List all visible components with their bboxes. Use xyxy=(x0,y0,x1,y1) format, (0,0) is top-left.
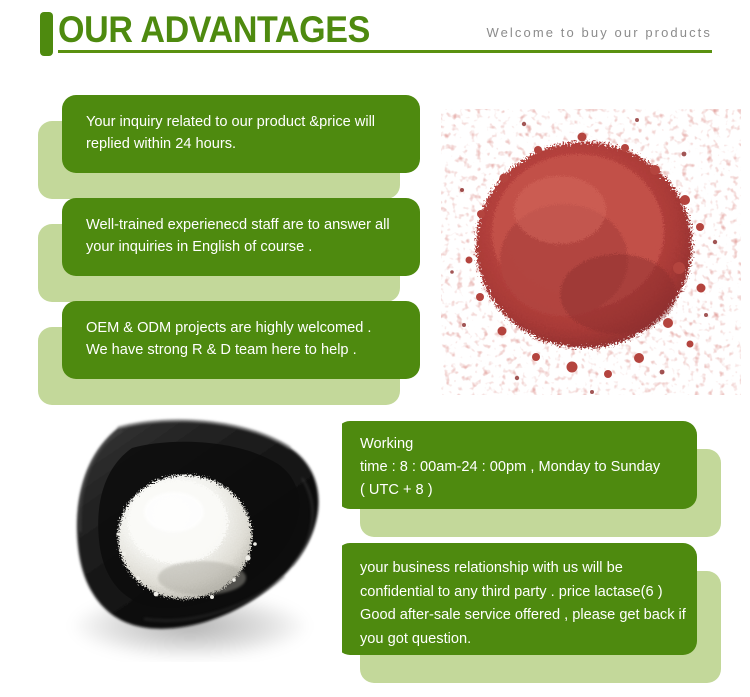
bubble-text: Well-trained experienecd staff are to an… xyxy=(86,214,416,258)
red-powder-photo xyxy=(432,82,750,408)
working-hours-bubble: Working time : 8 : 00am-24 : 00pm , Mond… xyxy=(336,421,722,536)
advantage-bubble: OEM & ODM projects are highly welcomed .… xyxy=(38,301,424,411)
advantage-bubble: Well-trained experienecd staff are to an… xyxy=(38,198,424,308)
confidentiality-bubble: your business relationship with us will … xyxy=(336,543,722,683)
bowl-illustration xyxy=(52,412,342,662)
header-tagline: Welcome to buy our products xyxy=(486,25,712,40)
white-powder-bowl-photo xyxy=(52,412,342,662)
title-accent-bar xyxy=(40,12,53,56)
bubble-text: your business relationship with us will … xyxy=(360,557,690,651)
header-divider xyxy=(58,50,712,53)
page-title: OUR ADVANTAGES xyxy=(58,8,370,52)
red-powder-illustration xyxy=(432,82,750,408)
bubble-text: Your inquiry related to our product &pri… xyxy=(86,111,416,155)
bubble-text: Working time : 8 : 00am-24 : 00pm , Mond… xyxy=(360,433,690,502)
bubble-text: OEM & ODM projects are highly welcomed .… xyxy=(86,317,416,361)
advantage-bubble: Your inquiry related to our product &pri… xyxy=(38,95,424,205)
page-header: OUR ADVANTAGES Welcome to buy our produc… xyxy=(0,0,750,70)
